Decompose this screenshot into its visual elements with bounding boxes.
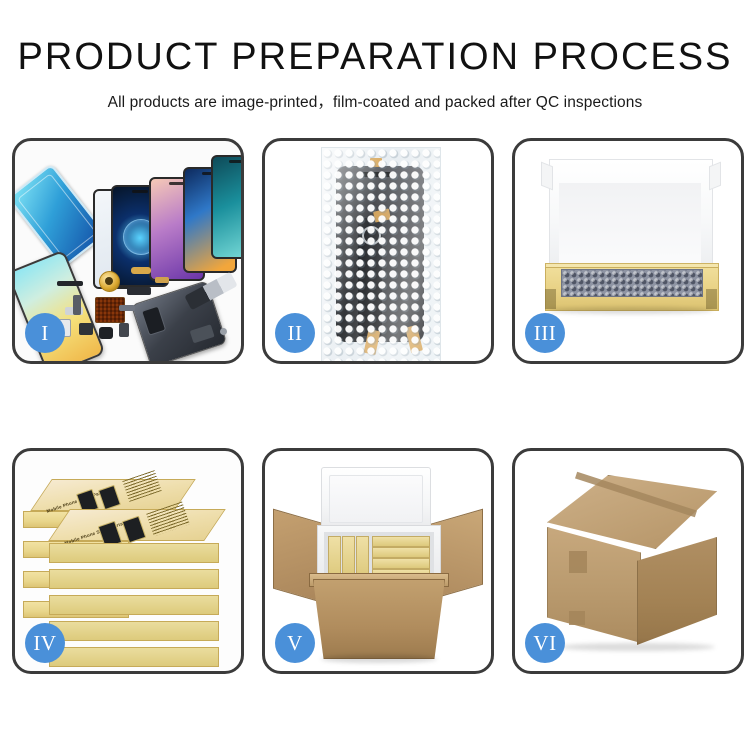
speaker-coil-icon [99, 271, 120, 292]
sealed-carton [533, 475, 729, 651]
notch-icon [229, 160, 241, 163]
step-badge: I [25, 313, 65, 353]
step-badge: VI [525, 623, 565, 663]
carton-front-face [547, 527, 641, 643]
part-button-icon [119, 323, 129, 337]
box-inner-wall [559, 183, 701, 269]
box-corner-shadow [706, 289, 717, 309]
carton-body [313, 579, 445, 659]
process-step-5: V [262, 448, 494, 674]
drop-shadow [549, 307, 713, 314]
anti-static-foam [561, 269, 703, 297]
process-step-grid: I II [12, 138, 738, 674]
stacked-box [49, 595, 219, 615]
process-step-4: Mobile Phone Spare Parts Mobile Phone Sp… [12, 448, 244, 674]
step-badge: V [275, 623, 315, 663]
packed-box [328, 536, 341, 578]
stacked-box [49, 569, 219, 589]
packed-box [372, 558, 430, 569]
page-title: PRODUCT PREPARATION PROCESS [0, 38, 750, 76]
drop-shadow [321, 655, 437, 663]
step-badge: II [275, 313, 315, 353]
packed-box [342, 536, 355, 578]
part-contact-icon [155, 277, 169, 283]
notch-icon [132, 190, 148, 193]
process-step-1: I [12, 138, 244, 364]
part-motor-icon [99, 327, 113, 339]
plastic-sheen [322, 148, 440, 361]
part-bracket-icon [119, 305, 135, 311]
packed-box [372, 547, 430, 558]
foam-cavity [324, 532, 434, 578]
packed-box [372, 536, 430, 547]
part-camera-icon [79, 323, 93, 335]
part-gold-flex-icon [131, 267, 151, 274]
box-corner-shadow [545, 289, 556, 309]
phone-screen-teal-icon [211, 155, 241, 259]
part-bar-icon [57, 281, 83, 286]
foam-lid-open [321, 467, 431, 531]
step-badge: III [525, 313, 565, 353]
process-step-6: VI [512, 448, 744, 674]
header: PRODUCT PREPARATION PROCESS All products… [0, 0, 750, 112]
stacked-box [49, 621, 219, 641]
page-subtitle: All products are image-printed，film-coat… [0, 90, 750, 112]
part-flex-cable-icon [127, 287, 151, 295]
screw-icon [220, 328, 227, 335]
packed-box [356, 536, 369, 578]
carton-side-face [637, 537, 717, 645]
process-step-2: II [262, 138, 494, 364]
step-badge: IV [25, 623, 65, 663]
product-preparation-infographic: { "header": { "title": "PRODUCT PREPARAT… [0, 0, 750, 750]
part-antenna-icon [73, 295, 81, 315]
process-step-3: III [512, 138, 744, 364]
drop-shadow [559, 643, 715, 651]
carton-tab [569, 551, 587, 573]
bubble-wrap-bag [321, 147, 441, 361]
carton-tab [569, 611, 585, 625]
stacked-box [49, 647, 219, 667]
stacked-box [49, 543, 219, 563]
